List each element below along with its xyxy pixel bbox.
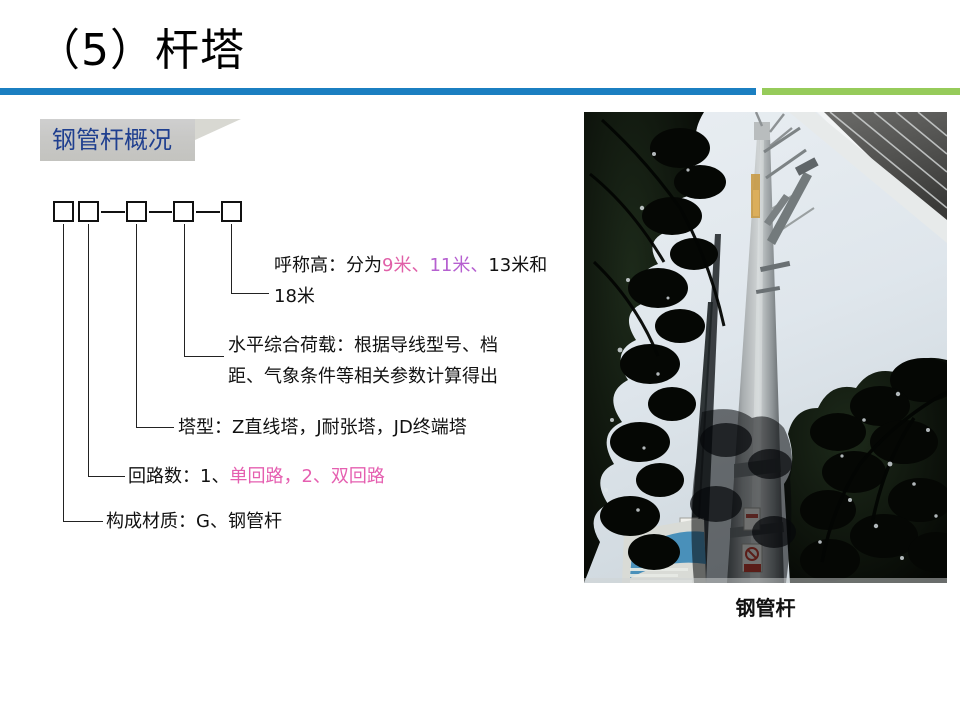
annotation-load-line1: 水平综合荷载：根据导线型号、档 xyxy=(228,330,498,361)
annotation-circuit-highlight: 单回路，2、双回路 xyxy=(229,466,384,487)
annotation-material-line1: 构成材质：G、钢管杆 xyxy=(106,506,282,537)
annotation-height-suffix: 13米和 xyxy=(488,255,547,276)
divider-blue xyxy=(0,88,756,95)
code-box-3 xyxy=(126,201,147,222)
banner-arrow-shape xyxy=(195,119,241,161)
code-dash-3 xyxy=(196,211,220,213)
code-box-2 xyxy=(78,201,99,222)
leader-v-height xyxy=(231,224,232,294)
code-box-5 xyxy=(221,201,242,222)
annotation-tower-type-line1: 塔型：Z直线塔，J耐张塔，JD终端塔 xyxy=(178,412,467,443)
leader-h-type xyxy=(136,427,174,428)
leader-h-material xyxy=(63,521,103,522)
leader-v-circuit xyxy=(88,224,89,477)
annotation-height-line2: 18米 xyxy=(274,281,547,312)
leader-v-type xyxy=(136,224,137,428)
page-title: （5）杆塔 xyxy=(36,22,245,80)
annotation-height-prefix: 呼称高：分为 xyxy=(274,255,382,276)
leader-v-load xyxy=(184,224,185,357)
annotation-circuit-count: 回路数：1、单回路，2、双回路 xyxy=(128,461,385,492)
code-dash-2 xyxy=(149,211,172,213)
annotation-height: 呼称高：分为9米、11米、13米和 18米 xyxy=(274,250,547,312)
code-box-1 xyxy=(53,201,74,222)
annotation-tower-type: 塔型：Z直线塔，J耐张塔，JD终端塔 xyxy=(178,412,467,443)
leader-v-material xyxy=(63,224,64,522)
pole-photo-artwork xyxy=(584,112,947,583)
annotation-circuit-prefix: 回路数：1、 xyxy=(128,466,229,487)
code-box-4 xyxy=(173,201,194,222)
pole-photo xyxy=(584,112,947,583)
photo-caption: 钢管杆 xyxy=(584,592,947,621)
annotation-height-9m: 9米、 xyxy=(382,255,429,276)
banner-label: 钢管杆概况 xyxy=(52,125,172,155)
code-dash-1 xyxy=(101,211,125,213)
annotation-horizontal-load: 水平综合荷载：根据导线型号、档 距、气象条件等相关参数计算得出 xyxy=(228,330,498,392)
leader-h-height xyxy=(231,293,269,294)
annotation-material: 构成材质：G、钢管杆 xyxy=(106,506,282,537)
annotation-load-line2: 距、气象条件等相关参数计算得出 xyxy=(228,361,498,392)
leader-h-load xyxy=(184,356,224,357)
leader-h-circuit xyxy=(88,476,125,477)
slide-root: （5）杆塔 钢管杆概况 呼称高：分为9米、11米、13米和 18米 水平综合荷载… xyxy=(0,0,960,720)
divider-green xyxy=(762,88,960,95)
annotation-height-11m: 11米、 xyxy=(429,255,488,276)
